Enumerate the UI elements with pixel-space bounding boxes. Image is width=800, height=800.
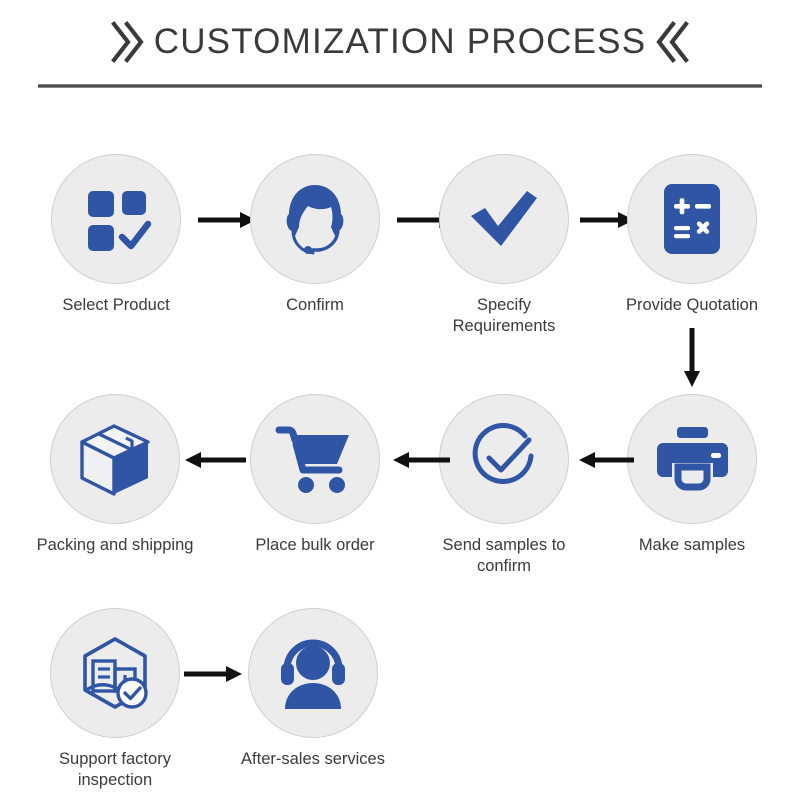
- title-row: CUSTOMIZATION PROCESS: [0, 14, 800, 70]
- calculator-icon: [656, 180, 728, 258]
- step-node-select-product[interactable]: Select Product: [36, 154, 196, 316]
- step-node-provide-quotation[interactable]: Provide Quotation: [612, 154, 772, 316]
- step-label: Support factory inspection: [35, 749, 195, 791]
- double-chevron-left-icon: [656, 20, 690, 64]
- package-box-icon: [74, 420, 156, 498]
- support-agent-icon: [275, 179, 355, 259]
- headset-person-icon: [273, 635, 353, 711]
- page-header: CUSTOMIZATION PROCESS: [0, 0, 800, 88]
- step-node-place-bulk-order[interactable]: Place bulk order: [235, 394, 395, 556]
- step-icon-circle: [250, 154, 380, 284]
- printer-icon: [653, 423, 731, 495]
- step-node-make-samples[interactable]: Make samples: [612, 394, 772, 556]
- connector-arrow-left: [390, 450, 452, 470]
- step-icon-circle: [50, 394, 180, 524]
- circle-check-icon: [463, 418, 545, 500]
- double-chevron-right-icon: [110, 20, 144, 64]
- factory-inspection-icon: [75, 633, 155, 713]
- step-label: Select Product: [36, 295, 196, 316]
- step-label: Confirm: [235, 295, 395, 316]
- step-label: Send samples to confirm: [424, 535, 584, 577]
- step-node-confirm[interactable]: Confirm: [235, 154, 395, 316]
- step-label: After-sales services: [233, 749, 393, 770]
- step-icon-circle: [627, 394, 757, 524]
- checkmark-icon: [465, 180, 543, 258]
- step-node-packing-and-shipping[interactable]: Packing and shipping: [35, 394, 195, 556]
- process-flow-diagram: Select Product Confirm: [0, 88, 800, 778]
- step-label: Make samples: [612, 535, 772, 556]
- connector-arrow-down: [681, 326, 703, 388]
- step-node-after-sales-services[interactable]: After-sales services: [233, 608, 393, 770]
- grid-check-icon: [78, 181, 154, 257]
- step-label: Specify Requirements: [424, 295, 584, 337]
- step-label: Provide Quotation: [612, 295, 772, 316]
- step-icon-circle: [627, 154, 757, 284]
- step-node-send-samples[interactable]: Send samples to confirm: [424, 394, 584, 577]
- connector-arrow-left: [578, 450, 636, 470]
- step-icon-circle: [51, 154, 181, 284]
- shopping-cart-icon: [275, 422, 355, 496]
- step-icon-circle: [439, 394, 569, 524]
- step-node-specify-requirements[interactable]: Specify Requirements: [424, 154, 584, 337]
- step-node-support-factory-inspection[interactable]: Support factory inspection: [35, 608, 195, 791]
- step-icon-circle: [250, 394, 380, 524]
- step-icon-circle: [439, 154, 569, 284]
- page-title: CUSTOMIZATION PROCESS: [154, 22, 647, 62]
- step-label: Place bulk order: [235, 535, 395, 556]
- step-icon-circle: [248, 608, 378, 738]
- step-label: Packing and shipping: [35, 535, 195, 556]
- step-icon-circle: [50, 608, 180, 738]
